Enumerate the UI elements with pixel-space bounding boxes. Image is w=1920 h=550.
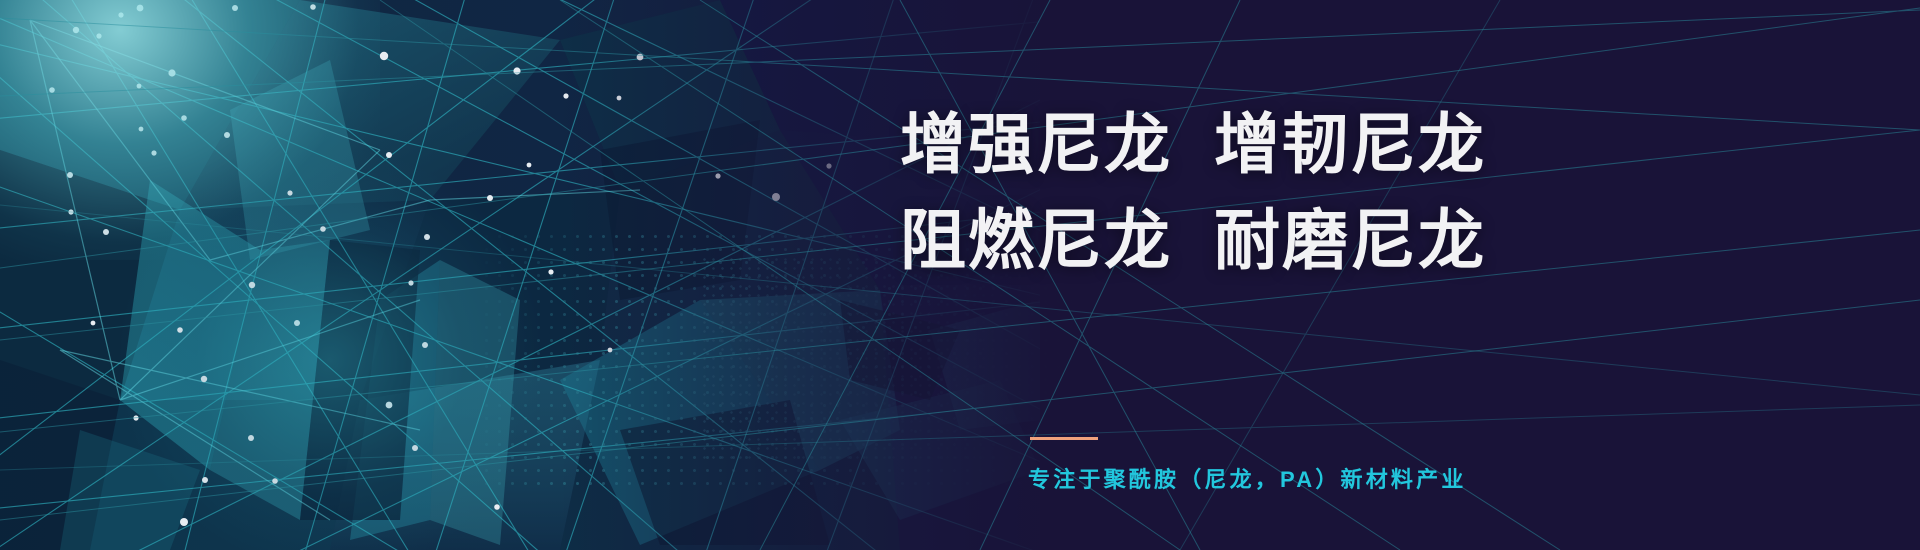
subtitle: 专注于聚酰胺（尼龙，PA）新材料产业 — [1028, 462, 1467, 494]
headline: 增强尼龙增韧尼龙 阻燃尼龙耐磨尼龙 — [900, 96, 1486, 289]
headline-line-2: 阻燃尼龙耐磨尼龙 — [900, 192, 1486, 288]
headline-line2-part2: 耐磨尼龙 — [1214, 203, 1486, 277]
headline-line-1: 增强尼龙增韧尼龙 — [900, 96, 1486, 192]
banner-content: 增强尼龙增韧尼龙 阻燃尼龙耐磨尼龙 专注于聚酰胺（尼龙，PA）新材料产业 — [900, 0, 1920, 550]
headline-line1-part2: 增韧尼龙 — [1214, 107, 1486, 181]
accent-rule-divider — [1030, 437, 1098, 440]
headline-line2-part1: 阻燃尼龙 — [900, 203, 1172, 277]
headline-line1-part1: 增强尼龙 — [900, 107, 1172, 181]
hero-banner: 增强尼龙增韧尼龙 阻燃尼龙耐磨尼龙 专注于聚酰胺（尼龙，PA）新材料产业 — [0, 0, 1920, 550]
polygonal-network-graphic — [0, 0, 1040, 550]
